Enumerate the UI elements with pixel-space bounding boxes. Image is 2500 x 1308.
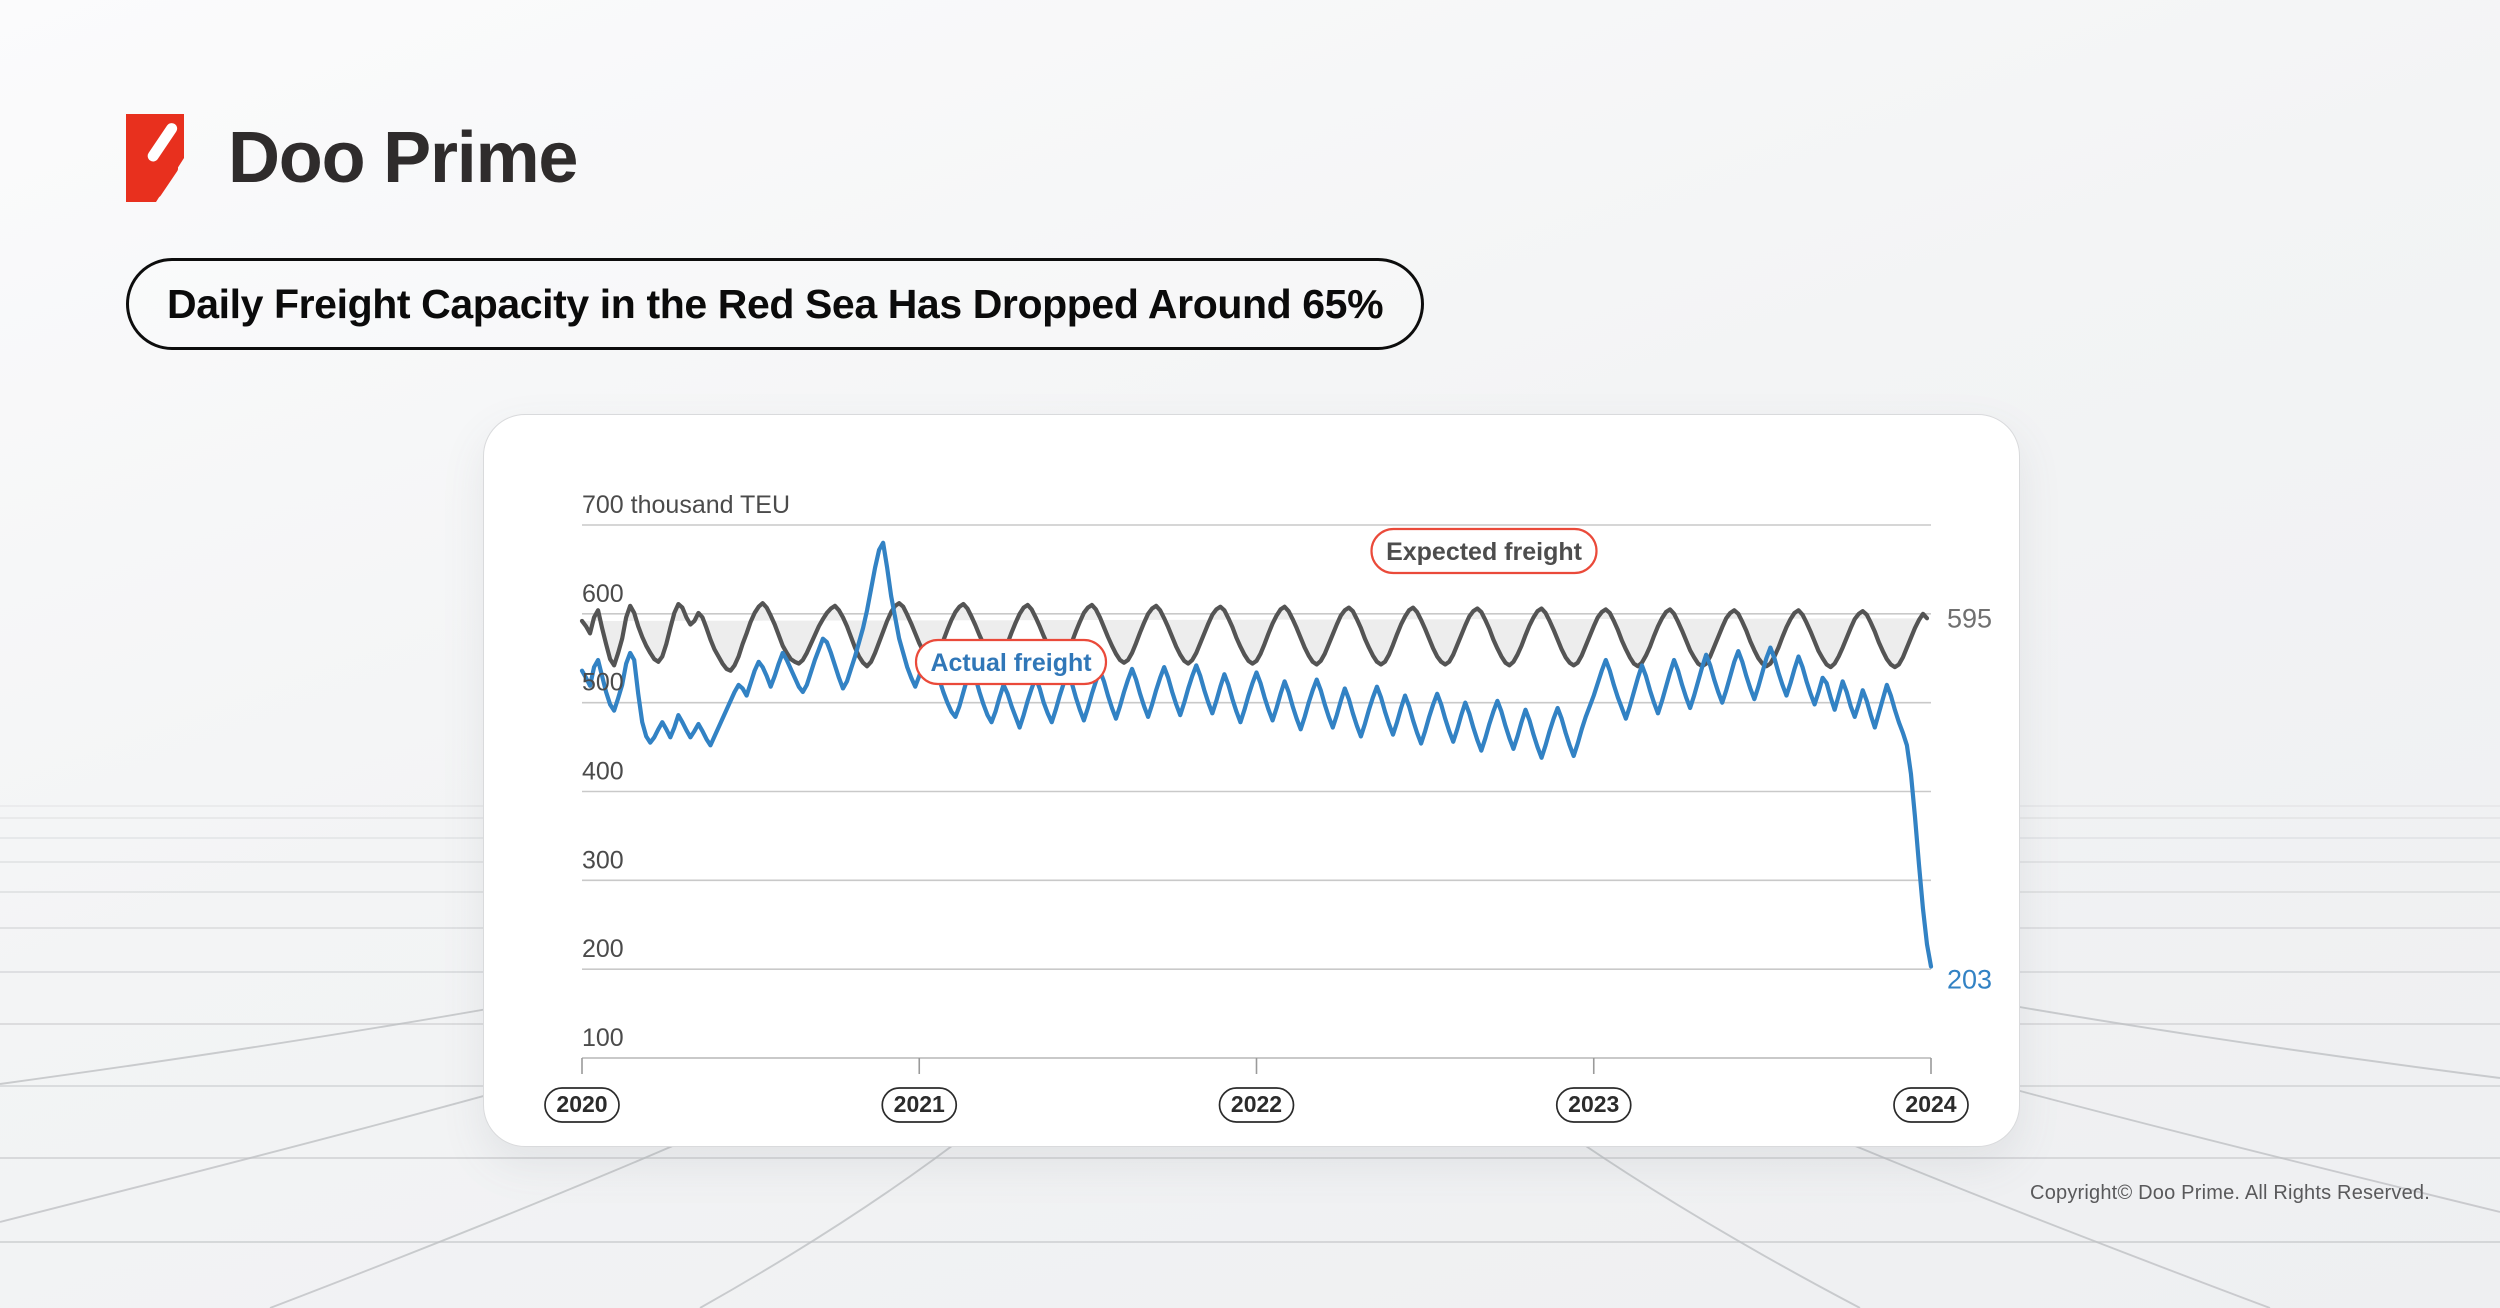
y-tick-label: 400 <box>582 758 624 786</box>
infographic-canvas: Doo Prime Daily Freight Capacity in the … <box>0 0 2500 1308</box>
actual-end-value: 203 <box>1947 965 1992 995</box>
headline-banner: Daily Freight Capacity in the Red Sea Ha… <box>126 258 1424 350</box>
series-pill-label: Actual freight <box>930 649 1092 677</box>
y-tick-label: 500 <box>582 669 624 697</box>
y-tick-label: 100 <box>582 1024 624 1052</box>
year-pill-label: 2022 <box>1231 1091 1282 1117</box>
y-tick-label: 600 <box>582 580 624 608</box>
year-pill-label: 2024 <box>1905 1091 1956 1117</box>
year-pill-label: 2020 <box>556 1091 607 1117</box>
series-end-values: 595203 <box>1947 603 1992 994</box>
doo-prime-logo-icon <box>126 114 202 202</box>
expected-end-value: 595 <box>1947 603 1992 633</box>
brand-logo: Doo Prime <box>126 114 577 202</box>
chart-gridlines <box>582 525 1931 1058</box>
y-tick-label: 700 thousand TEU <box>582 491 790 519</box>
copyright-notice: Copyright© Doo Prime. All Rights Reserve… <box>2030 1182 2430 1205</box>
actual-freight-line <box>582 543 1931 967</box>
page-title: Daily Freight Capacity in the Red Sea Ha… <box>167 281 1383 328</box>
freight-line-chart: 700 thousand TEU600500400300200100 20202… <box>484 415 2021 1148</box>
brand-wordmark: Doo Prime <box>228 122 577 194</box>
y-tick-label: 300 <box>582 846 624 874</box>
year-pill-label: 2023 <box>1568 1091 1619 1117</box>
chart-card: 700 thousand TEU600500400300200100 20202… <box>483 414 2020 1147</box>
y-axis-labels: 700 thousand TEU600500400300200100 <box>582 491 790 1052</box>
year-pill-label: 2021 <box>894 1091 945 1117</box>
x-axis-year-pills: 20202021202220232024 <box>545 1058 1968 1122</box>
series-pill-label: Expected freight <box>1386 538 1583 566</box>
y-tick-label: 200 <box>582 935 624 963</box>
